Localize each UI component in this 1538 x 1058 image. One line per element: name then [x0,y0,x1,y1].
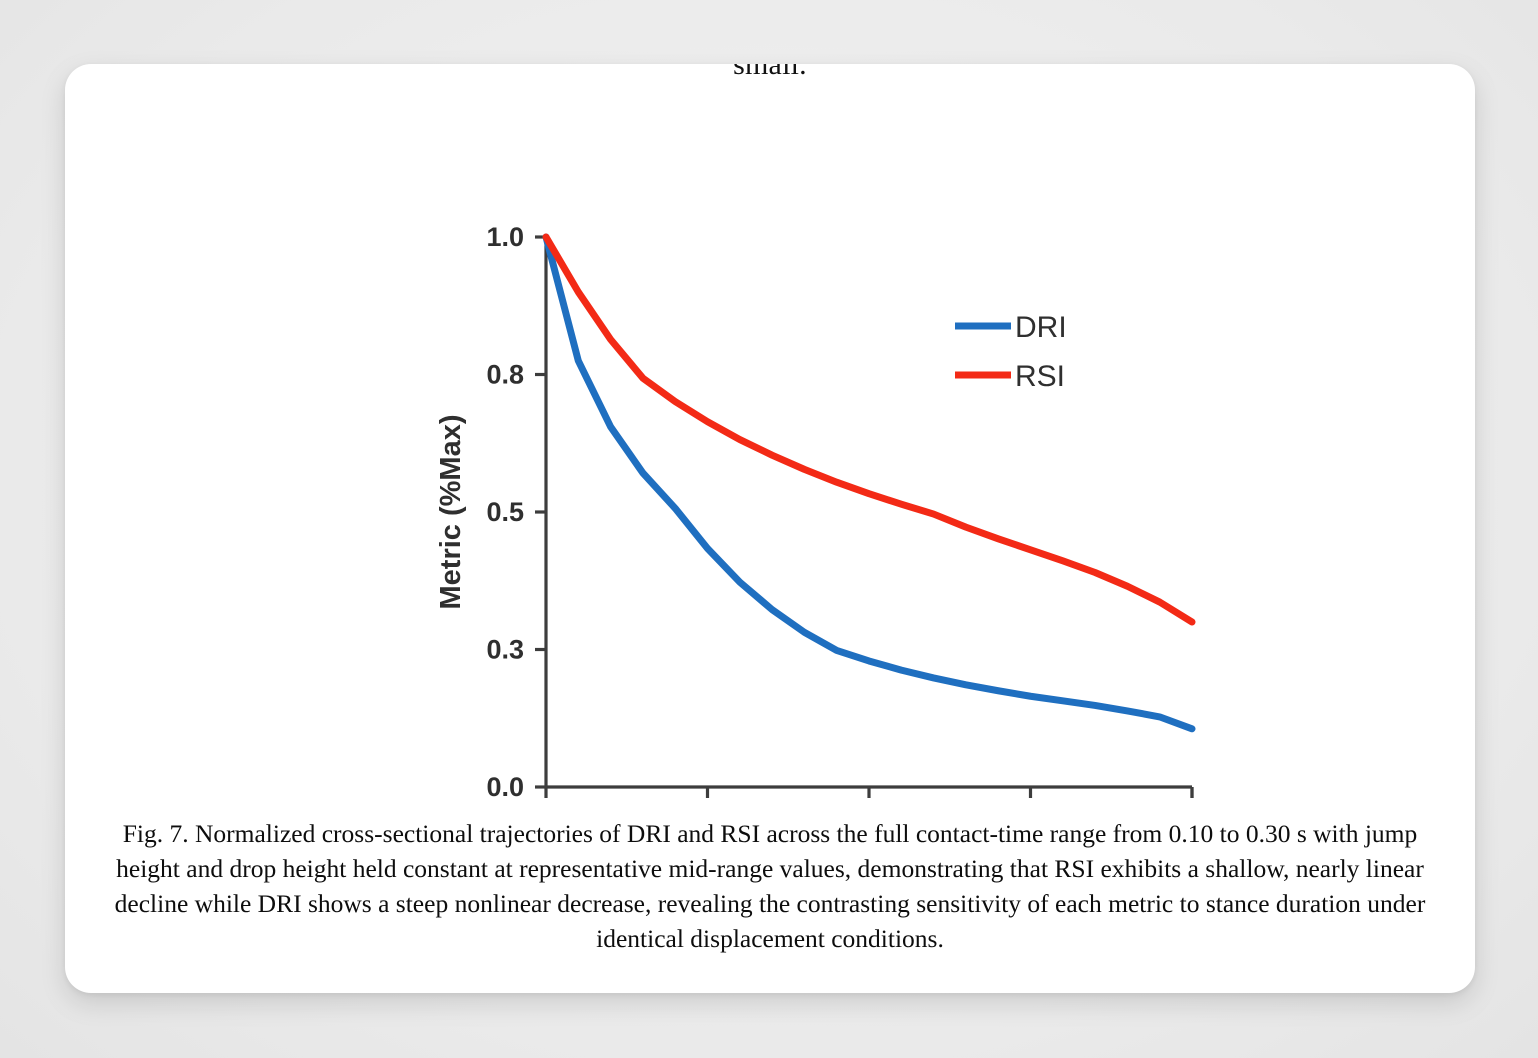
figure-caption: Fig. 7. Normalized cross-sectional traje… [95,816,1445,956]
x-tick-label: 0.10 [520,810,573,814]
y-tick-label: 0.8 [486,360,524,390]
y-tick-label: 0.3 [486,635,524,665]
chart-legend: DRIRSI [955,311,1067,393]
y-axis-title: Metric (%Max) [435,415,467,610]
line-chart: 0.00.30.50.81.00.100.150.200.250.30Time … [65,114,1475,814]
y-tick-label: 0.0 [486,772,524,802]
figure-plot-area: 0.00.30.50.81.00.100.150.200.250.30Time … [65,114,1475,814]
clipped-body-text: small. [65,64,1475,82]
series-line-rsi [546,237,1192,622]
legend-label-dri: DRI [1015,311,1067,344]
x-tick-label: 0.25 [1004,810,1057,814]
x-tick-label: 0.15 [681,810,734,814]
x-tick-label: 0.30 [1166,810,1219,814]
legend-label-rsi: RSI [1015,360,1065,393]
x-tick-label: 0.20 [843,810,896,814]
series-line-dri [546,237,1192,729]
chart-axes: 0.00.30.50.81.00.100.150.200.250.30Time … [435,222,1218,814]
figure-card: small. 0.00.30.50.81.00.100.150.200.250.… [65,64,1475,993]
chart-series [546,237,1192,729]
y-tick-label: 1.0 [486,222,524,252]
y-tick-label: 0.5 [486,497,524,527]
